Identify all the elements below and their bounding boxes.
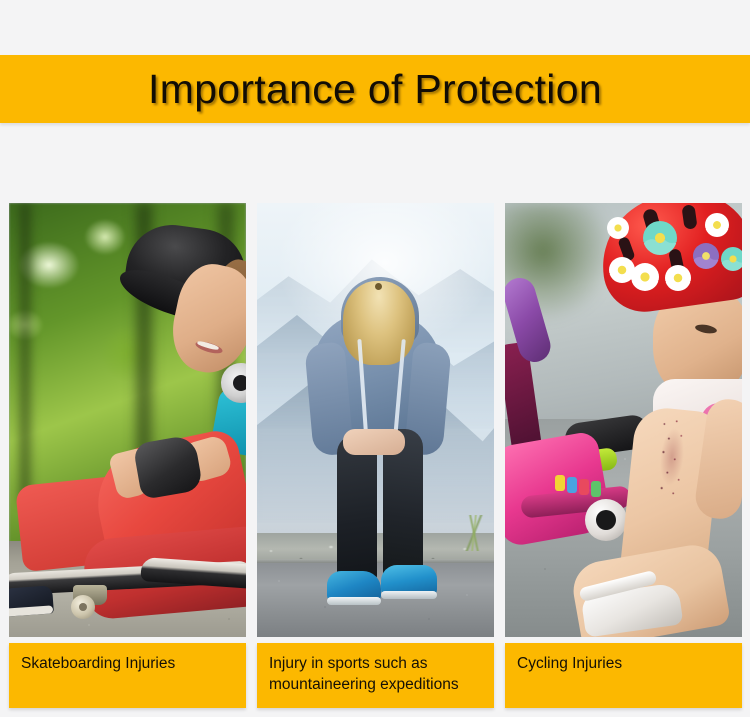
caption-text: Skateboarding Injuries: [21, 653, 234, 674]
caption-text: Injury in sports such as mountaineering …: [269, 653, 482, 695]
spoke-bead: [555, 475, 565, 491]
bike-bell: [585, 499, 627, 541]
spoke-bead: [591, 481, 601, 497]
left-shoe-sole: [327, 597, 381, 605]
caption-skateboarding: Skateboarding Injuries: [9, 643, 246, 708]
tree-trunk: [17, 203, 33, 503]
helmet-flower-sticker: [693, 243, 719, 269]
helmet-flower-sticker: [643, 221, 677, 255]
title-banner: Importance of Protection: [0, 55, 750, 123]
skateboard-wheel: [71, 595, 95, 619]
hands-on-knee: [343, 429, 405, 455]
helmet-flower-sticker: [607, 217, 629, 239]
helmet-flower-sticker: [665, 265, 691, 291]
spoke-bead: [567, 477, 577, 493]
card-mountaineering[interactable]: Injury in sports such as mountaineering …: [257, 203, 494, 708]
left-leg: [337, 435, 377, 583]
helmet-flower-sticker: [721, 247, 742, 271]
helmet-flower-sticker: [631, 263, 659, 291]
photo-cycling: [505, 203, 742, 637]
helmet-flower-sticker: [705, 213, 729, 237]
caption-text: Cycling Injuries: [517, 653, 730, 674]
cards-grid: Skateboarding Injuries: [9, 203, 743, 708]
roadside-grass: [453, 515, 494, 551]
page-title: Importance of Protection: [148, 69, 602, 110]
caption-cycling: Cycling Injuries: [505, 643, 742, 708]
photo-mountaineering: [257, 203, 494, 637]
card-cycling[interactable]: Cycling Injuries: [505, 203, 742, 708]
card-skateboarding[interactable]: Skateboarding Injuries: [9, 203, 246, 708]
photo-skateboarding: [9, 203, 246, 637]
spoke-bead: [579, 479, 589, 495]
hair-crown: [375, 283, 382, 290]
right-shoe-sole: [381, 591, 437, 599]
caption-mountaineering: Injury in sports such as mountaineering …: [257, 643, 494, 708]
